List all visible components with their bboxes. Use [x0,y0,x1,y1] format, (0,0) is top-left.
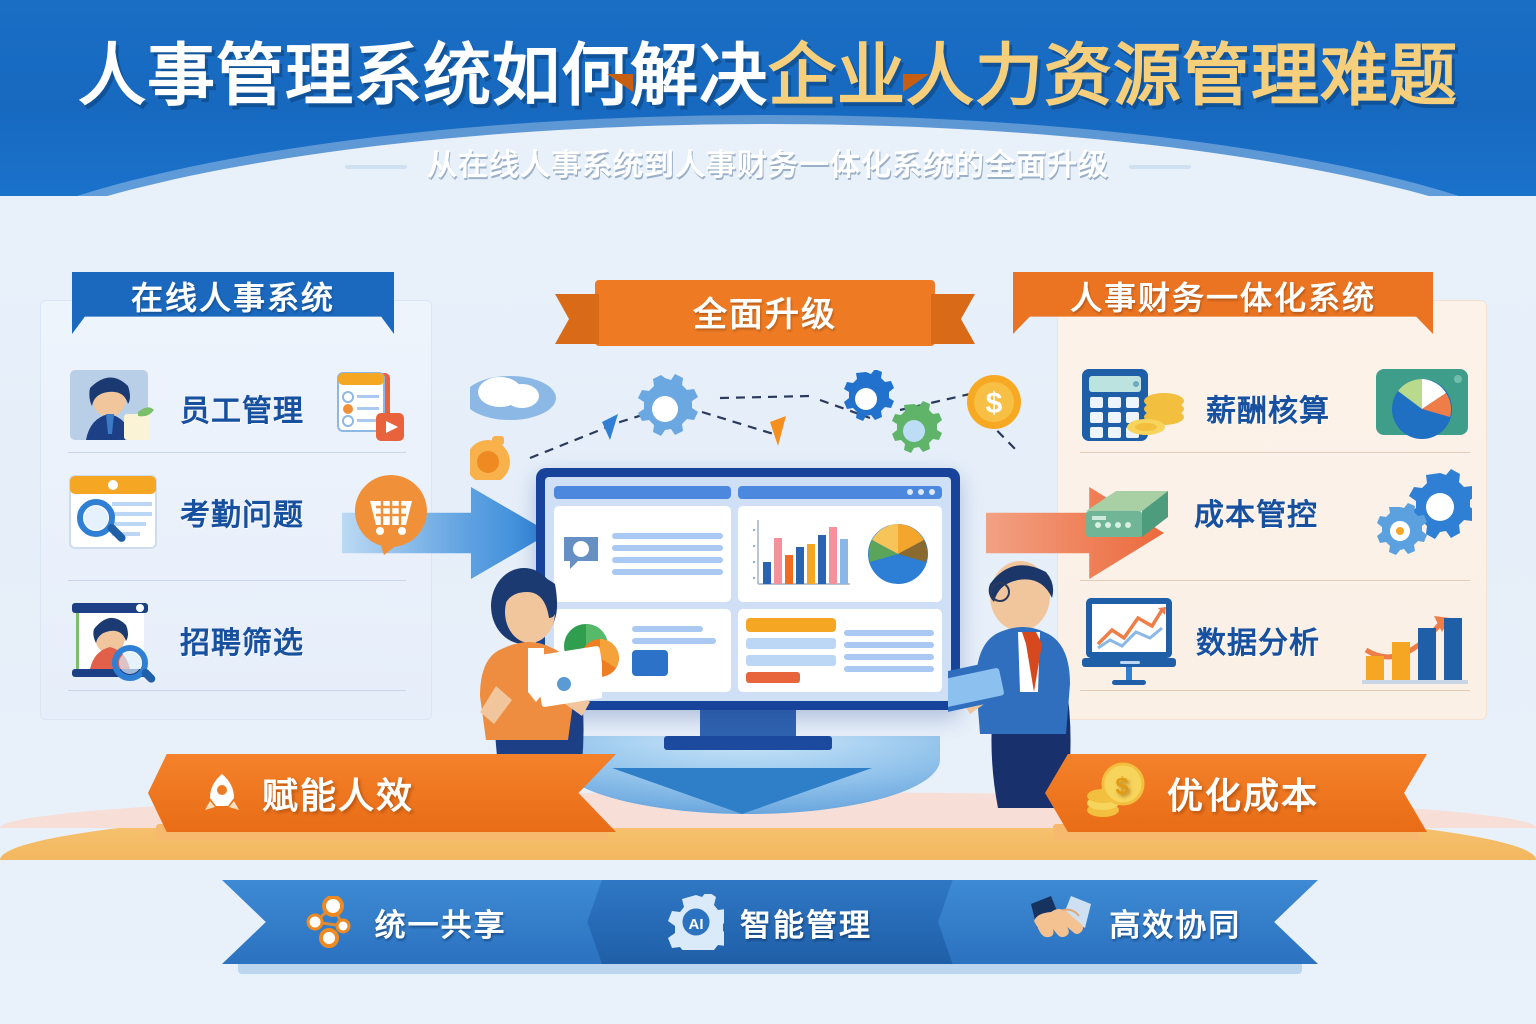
pie-chart-screen-icon [1372,365,1472,451]
cloud-icon [470,376,556,420]
page-title-gold: 企业人力资源管理难题 [768,38,1458,114]
left-feature-0[interactable]: 员工管理 [68,356,408,460]
left-feature-0-label: 员工管理 [180,386,304,430]
center-ribbon-label: 全面升级 [693,287,837,336]
right-feature-0-label: 薪酬核算 [1206,386,1330,430]
podium-triangle [612,768,872,814]
table-lines [844,630,934,672]
bottom-bar-item-2-label: 高效协同 [1109,900,1241,945]
monitor-stand [700,708,796,738]
right-feature-2-label: 数据分析 [1196,618,1320,662]
bottom-bar-item-0-label: 统一共享 [375,900,507,945]
right-feature-2[interactable]: 数据分析 [1080,588,1472,692]
center-ribbon: 全面升级 [595,280,935,346]
bar-chart [746,514,854,594]
table-grid [746,618,836,683]
left-panel-ribbon-label: 在线人事系统 [131,273,335,319]
subtitle-dash-left [345,165,407,169]
page-title-white: 人事管理系统如何解决 [78,38,768,114]
right-sep-1 [1080,580,1470,581]
bottom-bar-item-0[interactable]: 统一共享 [222,880,587,964]
dashboard-bar-chart-card [738,506,942,602]
gear-blue-icon [844,370,894,421]
camera-icon [470,436,510,480]
right-feature-1-label: 成本管控 [1194,490,1318,534]
cart-bubble-icon [348,469,434,555]
bottom-bar-item-2[interactable]: 高效协同 [953,880,1318,964]
gears-icon [1376,469,1472,555]
profile-lines [612,533,723,575]
employee-card-icon [68,368,160,448]
calculator-coins-icon [1080,365,1188,451]
rocket-icon [200,771,244,815]
subtitle-text: 从在线人事系统到人事财务一体化系统的全面升级 [427,149,1109,182]
candidate-screen-icon [68,597,160,683]
right-feature-0[interactable]: 薪酬核算 [1080,356,1472,460]
callout-left-label: 赋能人效 [262,767,414,819]
svg-text:AI: AI [688,916,703,933]
svg-text:$: $ [986,387,1003,420]
dollar-coins-icon: $ [1085,762,1149,824]
arrow-marker-blue [602,414,618,440]
cash-stack-icon [1080,477,1176,547]
bottom-bar: 统一共享 AI 智能管理 高效协同 [222,880,1318,964]
search-document-icon [68,472,160,552]
dashboard-screen [545,477,951,701]
left-feature-1[interactable]: 考勤问题 [68,460,408,564]
right-feature-1[interactable]: 成本管控 [1080,460,1472,564]
bar-growth-icon [1360,594,1472,686]
left-feature-2-label: 招聘筛选 [180,618,304,662]
gear-green-icon [892,401,942,453]
network-share-icon [303,896,359,948]
gear-ai-icon: AI [668,894,724,950]
callout-right[interactable]: $ 优化成本 [1045,754,1427,832]
checklist-video-icon [328,369,408,447]
dashboard-table-card [738,609,942,692]
callout-right-label: 优化成本 [1167,767,1319,819]
bottom-bar-item-1-label: 智能管理 [740,900,872,945]
left-sep-1 [68,580,406,581]
handshake-icon [1029,894,1093,950]
left-feature-1-label: 考勤问题 [180,490,304,534]
pie-chart [862,518,934,590]
gear-light-icon [638,374,698,436]
monitor-stand-base [664,736,832,750]
left-feature-2[interactable]: 招聘筛选 [68,588,408,692]
dollar-coin-icon: $ [967,375,1021,429]
flow-graphic: $ [470,370,1030,480]
bottom-bar-item-1[interactable]: AI 智能管理 [587,880,952,964]
page-title: 人事管理系统如何解决企业人力资源管理难题 [0,40,1536,113]
callout-left[interactable]: 赋能人效 [148,754,616,832]
page-subtitle: 从在线人事系统到人事财务一体化系统的全面升级 [0,140,1536,184]
right-panel-ribbon-label: 人事财务一体化系统 [1070,273,1376,319]
svg-text:$: $ [1115,773,1130,800]
subtitle-dash-right [1129,165,1191,169]
donut-lines [632,626,723,676]
dashboard-titlebar-right [738,486,942,499]
infographic-root: 人事管理系统如何解决企业人力资源管理难题 从在线人事系统到人事财务一体化系统的全… [0,0,1536,1024]
dashboard-titlebar-left [554,486,731,499]
window-dots [907,489,935,495]
arrow-marker-orange [770,416,786,446]
